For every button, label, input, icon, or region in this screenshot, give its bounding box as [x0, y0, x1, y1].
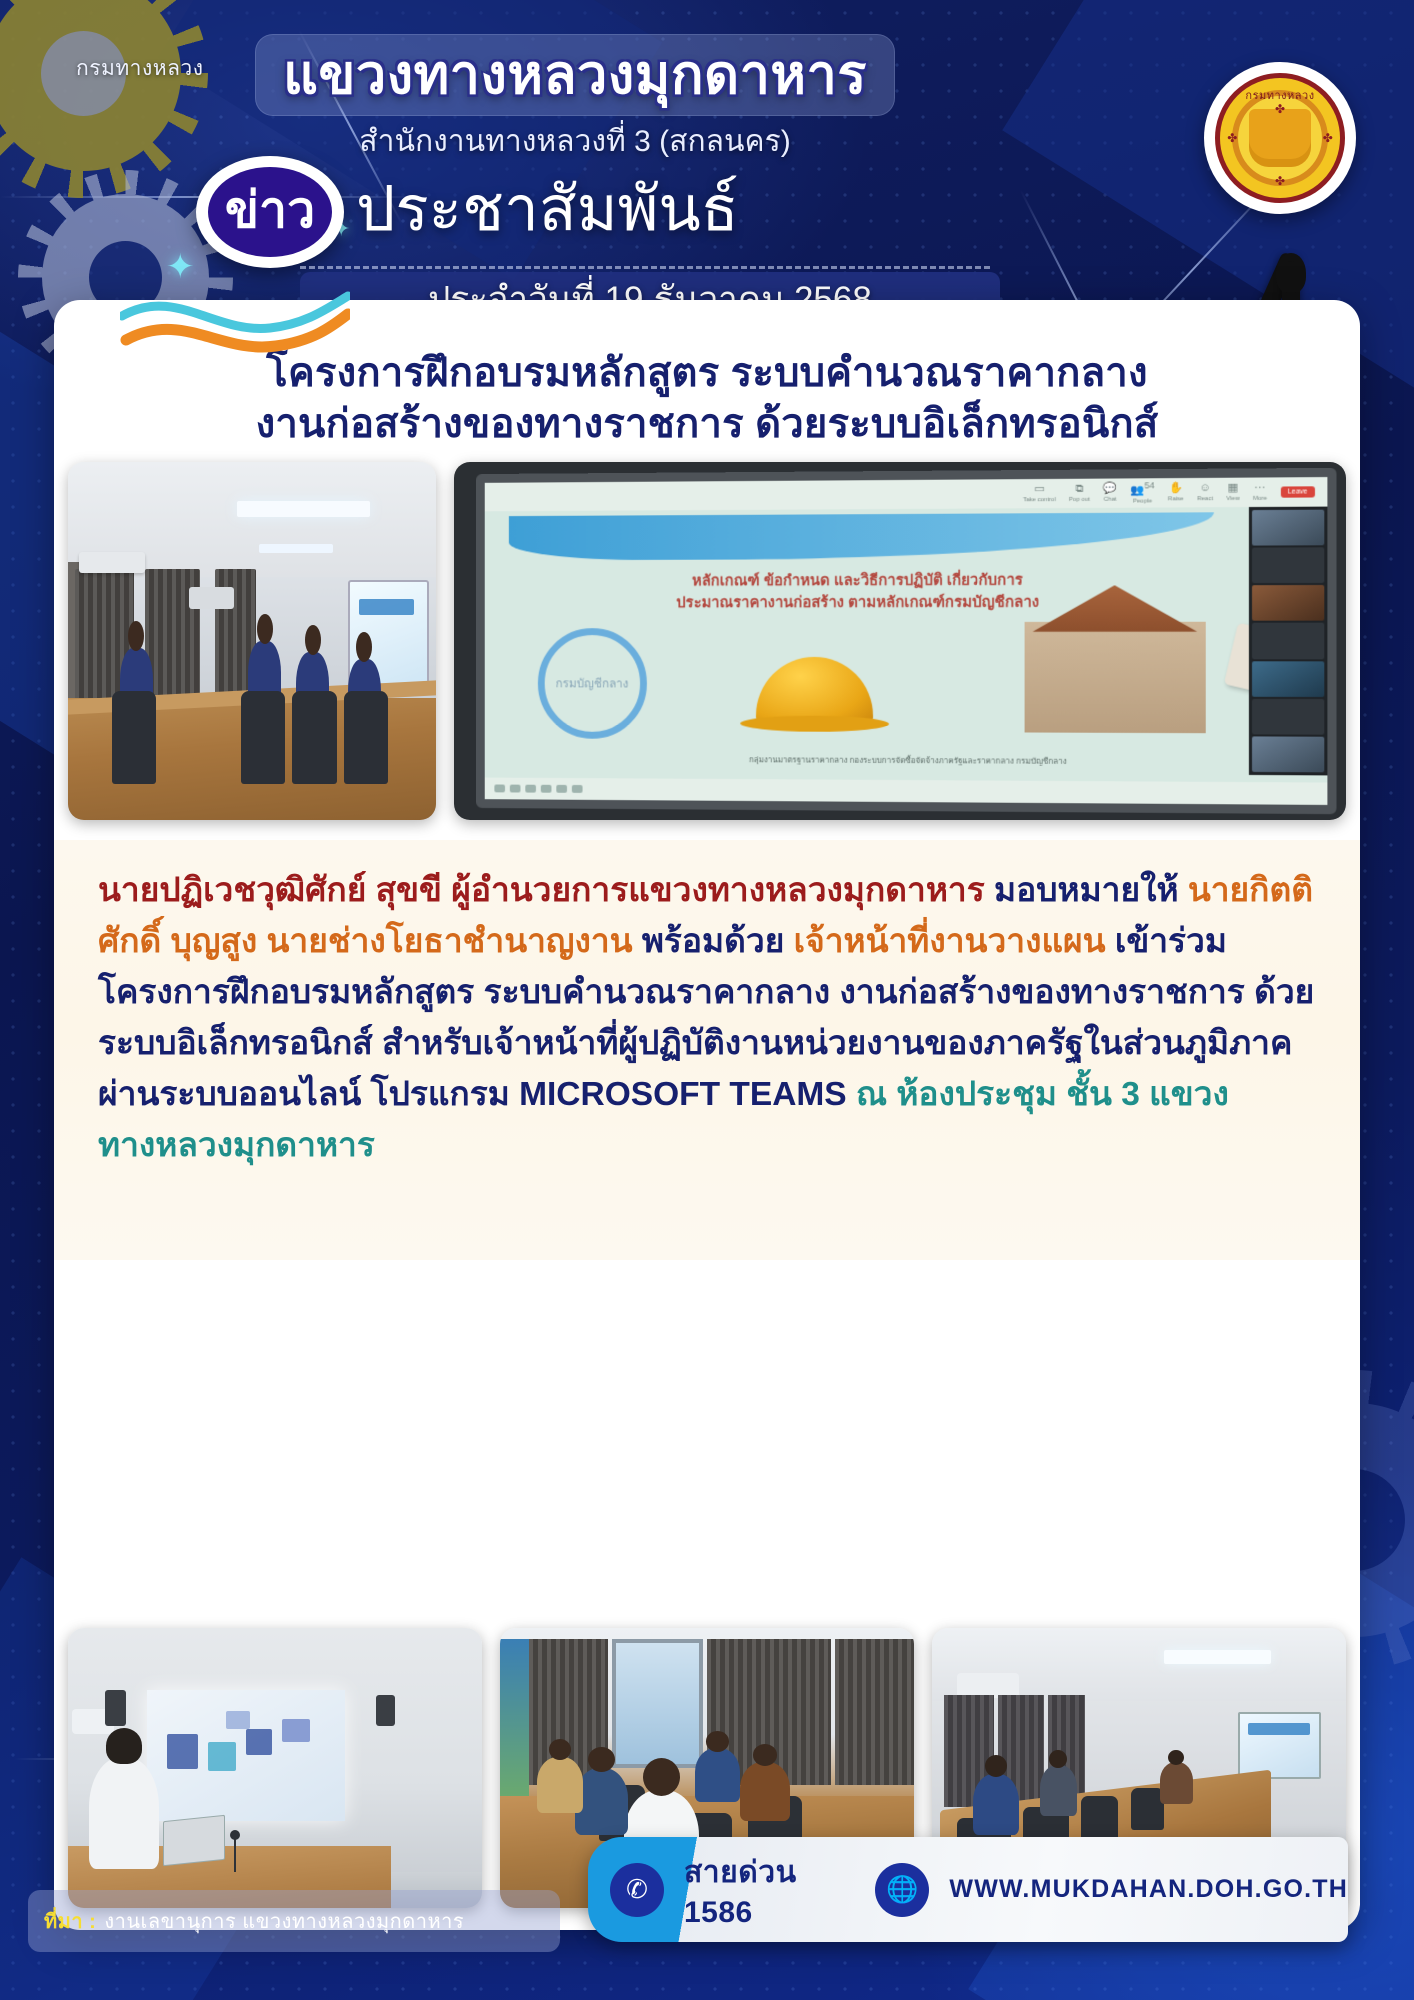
house-construction-illustration: [1025, 621, 1206, 732]
swoosh-ornament: [120, 288, 350, 358]
director-name: นายปฏิเวชวุฒิศักย์ สุขขี ผู้อำนวยการแขวง…: [98, 872, 985, 909]
project-heading: โครงการฝึกอบรมหลักสูตร ระบบคำนวณราคากลาง…: [54, 348, 1360, 450]
hotline-number: สายด่วน 1586: [684, 1849, 855, 1930]
screen-icon: ▭Take control: [1023, 484, 1056, 503]
teams-toolbar: ▭Take control ⧉Pop out 💬Chat 👥54People ✋…: [485, 477, 1327, 511]
seal-ornament-icon: ✤: [1275, 102, 1285, 116]
website-url[interactable]: WWW.MUKDAHAN.DOH.GO.TH: [949, 1875, 1348, 1904]
phone-icon: ✆: [610, 1863, 664, 1917]
people-icon: 👥54People: [1131, 481, 1155, 504]
news-badge-label: ข่าว: [208, 167, 332, 257]
news-badge: ข่าว: [196, 156, 344, 268]
emoji-icon: ☺React: [1197, 483, 1213, 502]
department-seal: กรมทางหลวง ✤ ✤ ✤ ✤: [1204, 62, 1356, 214]
accompanied-by: พร้อมด้วย: [642, 923, 794, 960]
slide-caption: กลุ่มงานมาตรฐานราคากลาง กองระบบการจัดซื้…: [567, 755, 1258, 769]
poster-root: ✦ ✦ ✦ กรมทางหลวง แขวงทางหลวงมุกดาหาร สำน…: [0, 0, 1414, 2000]
globe-icon: 🌐: [875, 1863, 929, 1917]
platform-name: MICROSOFT TEAMS: [519, 1076, 847, 1113]
poster-footer: ที่มา : งานเลขานุการ แขวงทางหลวงมุกดาหาร…: [0, 1820, 1414, 2000]
safety-helmet-icon: [756, 657, 873, 727]
contact-bar: ✆ สายด่วน 1586 🌐 WWW.MUKDAHAN.DOH.GO.TH: [588, 1837, 1348, 1942]
source-value: งานเลขานุการ แขวงทางหลวงมุกดาหาร: [104, 1905, 464, 1937]
grid-icon: ▦View: [1227, 483, 1240, 502]
meeting-screen: ▭Take control ⧉Pop out 💬Chat 👥54People ✋…: [476, 468, 1336, 814]
seal-ornament-icon: ✤: [1227, 131, 1237, 145]
presentation-slide-photo: ▭Take control ⧉Pop out 💬Chat 👥54People ✋…: [454, 462, 1346, 820]
assigned-verb: มอบหมายให้: [994, 872, 1188, 909]
sub-office-label: สำนักงานทางหลวงที่ 3 (สกลนคร): [255, 118, 895, 165]
leave-icon: Leave: [1281, 486, 1315, 497]
slide-thumbnail-bar: [485, 777, 1327, 805]
meeting-room-photo: [68, 462, 436, 820]
staff-group: เจ้าหน้าที่งานวางแผน: [794, 923, 1106, 960]
pr-headline: ประชาสัมพันธ์: [356, 160, 739, 258]
source-credit: ที่มา : งานเลขานุการ แขวงทางหลวงมุกดาหาร: [28, 1890, 560, 1952]
popout-icon: ⧉Pop out: [1069, 484, 1090, 503]
department-label: กรมทางหลวง: [76, 52, 203, 85]
seal-ornament-icon: ✤: [1275, 174, 1285, 188]
page-title: แขวงทางหลวงมุกดาหาร: [255, 30, 895, 118]
participant-thumbnail-strip: [1249, 507, 1327, 776]
header-divider: [300, 266, 990, 269]
seal-emblem-icon: [1249, 109, 1311, 167]
seal-ornament-icon: ✤: [1323, 131, 1333, 145]
seal-ring: กรมทางหลวง ✤ ✤ ✤ ✤: [1215, 73, 1345, 203]
top-photo-row: ▭Take control ⧉Pop out 💬Chat 👥54People ✋…: [68, 462, 1346, 820]
announcement-body: นายปฏิเวชวุฒิศักย์ สุขขี ผู้อำนวยการแขวง…: [54, 840, 1360, 1260]
project-heading-line2: งานก่อสร้างของทางราชการ ด้วยระบบอิเล็กทร…: [54, 399, 1360, 450]
hand-icon: ✋Raise: [1168, 483, 1184, 502]
source-label: ที่มา :: [44, 1905, 96, 1937]
comptroller-general-logo: กรมบัญชีกลาง: [538, 628, 647, 739]
content-card: โครงการฝึกอบรมหลักสูตร ระบบคำนวณราคากลาง…: [54, 300, 1360, 1930]
more-icon: ⋯More: [1253, 482, 1267, 501]
chat-icon: 💬Chat: [1103, 483, 1117, 502]
